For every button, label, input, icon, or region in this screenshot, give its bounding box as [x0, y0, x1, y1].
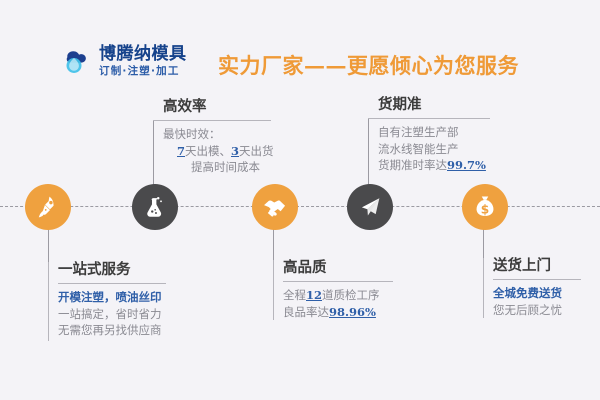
logo-wordmark: 博腾纳模具 订制·注塑·加工 [99, 46, 187, 77]
quality-line1-pre: 全程 [283, 288, 306, 302]
paper-plane-icon [357, 194, 383, 220]
timeline-node-door-delivery[interactable]: $ [462, 184, 508, 230]
handshake-icon [261, 193, 289, 221]
quality-yield-rate: 98.96% [329, 305, 376, 319]
timeline-node-quality[interactable] [252, 184, 298, 230]
block-delivery-accuracy-line1: 自有注塑生产部 [378, 124, 490, 141]
block-one-stop: 一站式服务 开模注塑，喷油丝印 一站搞定，省时省力 无需您再另找供应商 [48, 262, 166, 341]
efficiency-days-ship: 3 [231, 144, 239, 158]
block-one-stop-body: 开模注塑，喷油丝印 一站搞定，省时省力 无需您再另找供应商 [58, 289, 166, 339]
efficiency-days-mold: 7 [177, 144, 185, 158]
timeline-node-efficiency[interactable] [132, 184, 178, 230]
page-headline: 实力厂家——更愿倾心为您服务 [218, 50, 519, 80]
block-quality-line1: 全程12道质检工序 [283, 287, 393, 304]
quality-line2-pre: 良品率达 [283, 305, 329, 319]
stem-quality [273, 229, 274, 263]
block-one-stop-title: 一站式服务 [58, 262, 166, 278]
block-delivery-accuracy-title: 货期准 [368, 97, 490, 113]
logo-title: 博腾纳模具 [99, 46, 187, 63]
cloud-droplet-logo-icon [62, 46, 92, 76]
rocket-icon [35, 194, 61, 220]
block-door-delivery-line2: 您无后顾之忧 [493, 302, 581, 319]
quality-inspection-steps: 12 [306, 288, 322, 302]
block-delivery-accuracy-line2: 流水线智能生产 [378, 141, 490, 158]
block-efficiency-title: 高效率 [153, 99, 274, 115]
svg-text:$: $ [481, 203, 489, 217]
stem-door-delivery [483, 229, 484, 261]
block-delivery-accuracy-rule [368, 118, 490, 119]
block-door-delivery-rule [493, 279, 581, 280]
block-door-delivery-body: 全城免费送货 您无后顾之忧 [493, 285, 581, 318]
logo-subtitle: 订制·注塑·加工 [99, 66, 187, 77]
stem-one-stop [48, 229, 49, 265]
block-quality-body: 全程12道质检工序 良品率达98.96% [283, 287, 393, 320]
block-door-delivery-title: 送货上门 [493, 258, 581, 274]
block-quality: 高品质 全程12道质检工序 良品率达98.96% [273, 260, 393, 320]
block-door-delivery-line1: 全城免费送货 [493, 285, 581, 302]
timeline-node-delivery-accuracy[interactable] [347, 184, 393, 230]
block-quality-rule [283, 281, 393, 282]
block-delivery-accuracy: 货期准 自有注塑生产部 流水线智能生产 货期准时率达99.7% [368, 97, 490, 174]
block-efficiency-rule [153, 120, 271, 121]
block-one-stop-rule [58, 283, 166, 284]
infographic-canvas: 博腾纳模具 订制·注塑·加工 实力厂家——更愿倾心为您服务 [0, 0, 600, 400]
block-quality-line2: 良品率达98.96% [283, 304, 393, 321]
block-efficiency-body: 最快时效： 7天出模、3天出货 提高时间成本 [153, 126, 274, 176]
delivery-accuracy-rate: 99.7% [447, 158, 486, 172]
timeline-node-one-stop[interactable] [25, 184, 71, 230]
block-quality-title: 高品质 [283, 260, 393, 276]
block-one-stop-line1: 开模注塑，喷油丝印 [58, 289, 166, 306]
money-bag-icon: $ [472, 194, 498, 220]
block-efficiency-line2: 7天出模、3天出货 [163, 143, 274, 160]
block-delivery-accuracy-line3: 货期准时率达99.7% [378, 157, 490, 174]
block-door-delivery: 送货上门 全城免费送货 您无后顾之忧 [483, 258, 581, 318]
block-delivery-accuracy-body: 自有注塑生产部 流水线智能生产 货期准时率达99.7% [368, 124, 490, 174]
quality-line1-post: 道质检工序 [322, 288, 380, 302]
delivery-accuracy-line3-pre: 货期准时率达 [378, 158, 447, 172]
efficiency-line2-mid: 天出模、 [185, 144, 231, 158]
block-efficiency-line1: 最快时效： [163, 126, 274, 143]
efficiency-line2-post: 天出货 [239, 144, 274, 158]
company-logo: 博腾纳模具 订制·注塑·加工 [62, 46, 187, 77]
block-one-stop-line2: 一站搞定，省时省力 [58, 306, 166, 323]
block-efficiency: 高效率 最快时效： 7天出模、3天出货 提高时间成本 [153, 99, 274, 176]
timeline-dashed-rule [0, 206, 600, 207]
flask-icon [142, 194, 168, 220]
block-one-stop-line3: 无需您再另找供应商 [58, 322, 166, 339]
block-efficiency-line3: 提高时间成本 [163, 159, 274, 176]
